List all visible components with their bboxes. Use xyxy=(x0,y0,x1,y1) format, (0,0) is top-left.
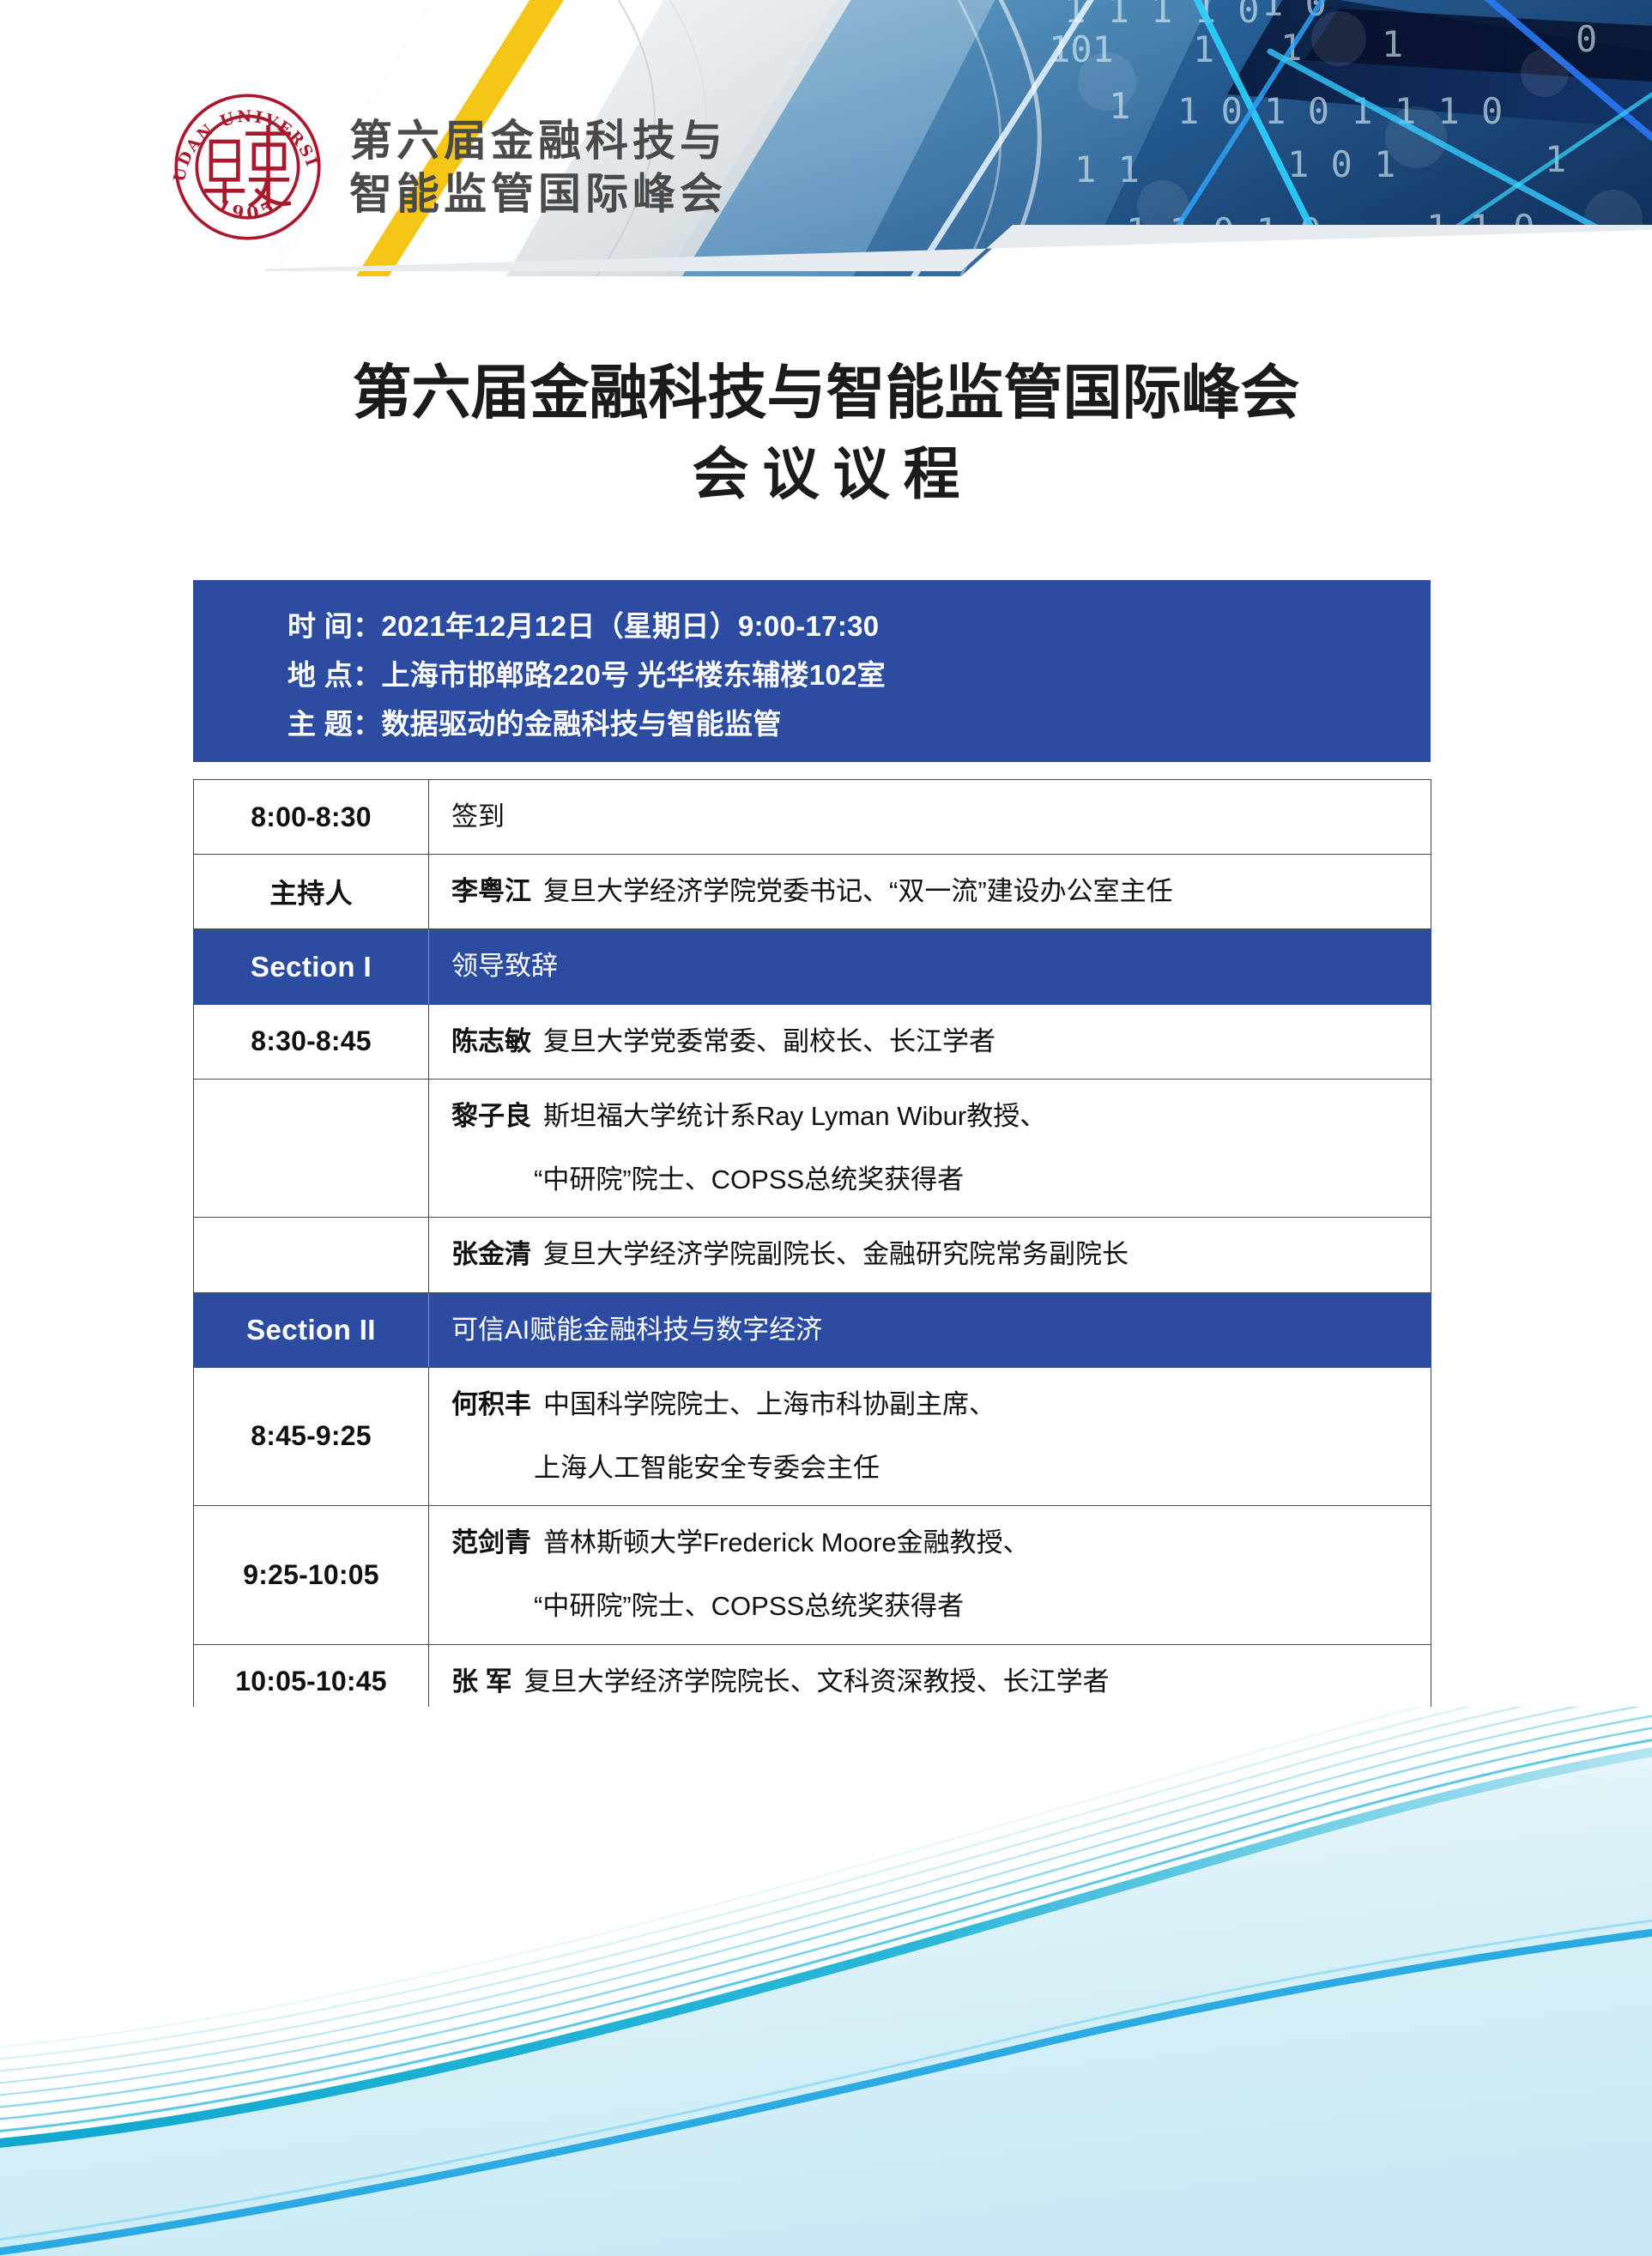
speaker-name: 张 军 xyxy=(451,1666,512,1697)
agenda-row: 张金清复旦大学经济学院副院长、金融研究院常务副院长 xyxy=(194,1218,1431,1292)
agenda-line: 普林斯顿大学Frederick Moore金融教授、 xyxy=(543,1527,1030,1557)
agenda-line: 复旦大学党委常委、副校长、长江学者 xyxy=(543,1026,995,1056)
agenda-time: 9:25-10:05 xyxy=(194,1544,428,1606)
agenda-row: 主持人李粤江复旦大学经济学院党委书记、“双一流”建设办公室主任 xyxy=(194,855,1431,929)
svg-text:1: 1 xyxy=(1382,23,1403,65)
agenda-row: 8:30-8:45陈志敏复旦大学党委常委、副校长、长江学者 xyxy=(194,1004,1431,1079)
agenda-row: 8:45-9:25何积丰中国科学院院士、上海市科协副主席、上海人工智能安全专委会… xyxy=(194,1367,1431,1505)
event-theme: 主 题：数据驱动的金融科技与智能监管 xyxy=(287,700,1431,749)
agenda-line: 可信AI赋能金融科技与数字经济 xyxy=(451,1315,822,1345)
agenda-row: 黎子良斯坦福大学统计系Ray Lyman Wibur教授、“中研院”院士、COP… xyxy=(194,1079,1431,1217)
agenda-section-row: Section I领导致辞 xyxy=(194,929,1431,1004)
speaker-name: 张金清 xyxy=(451,1239,531,1269)
page-title-line-1: 第六届金融科技与智能监管国际峰会 xyxy=(0,356,1652,430)
agenda-line: “中研院”院士、COPSS总统奖获得者 xyxy=(534,1164,964,1195)
section-topic: 可信AI赋能金融科技与数字经济 xyxy=(429,1293,1431,1367)
agenda-line: 中国科学院院士、上海市科协副主席、 xyxy=(543,1389,995,1419)
speaker-name: 黎子良 xyxy=(451,1101,531,1131)
agenda-detail: 李粤江复旦大学经济学院党委书记、“双一流”建设办公室主任 xyxy=(429,855,1431,928)
section-label: Section I xyxy=(194,935,428,999)
agenda-detail: 何积丰中国科学院院士、上海市科协副主席、上海人工智能安全专委会主任 xyxy=(429,1368,1431,1505)
agenda-line: 复旦大学经济学院院长、文科资深教授、长江学者 xyxy=(524,1666,1110,1697)
agenda-detail: 陈志敏复旦大学党委常委、副校长、长江学者 xyxy=(429,1005,1431,1079)
brand-logo-line-2: 智能监管国际峰会 xyxy=(349,170,727,218)
agenda-time: 8:45-9:25 xyxy=(194,1405,428,1467)
agenda-table: 8:00-8:30签到主持人李粤江复旦大学经济学院党委书记、“双一流”建设办公室… xyxy=(193,779,1431,1794)
agenda-detail: 黎子良斯坦福大学统计系Ray Lyman Wibur教授、“中研院”院士、COP… xyxy=(429,1080,1431,1217)
svg-text:1 0 1: 1 0 1 xyxy=(1287,143,1395,185)
agenda-time: 8:00-8:30 xyxy=(194,786,428,849)
agenda-detail: 范剑青普林斯顿大学Frederick Moore金融教授、“中研院”院士、COP… xyxy=(429,1506,1431,1643)
brand-logo-row: FUDAN UNIVERSITY 1905 第六届金融科技与 智能监管国际峰会 xyxy=(168,86,727,249)
agenda-time: 8:30-8:45 xyxy=(194,1010,428,1073)
page-title: 第六届金融科技与智能监管国际峰会 会议议程 xyxy=(0,356,1652,510)
agenda-time: 主持人 xyxy=(194,856,428,927)
agenda-row: 8:00-8:30签到 xyxy=(194,780,1431,855)
svg-text:1: 1 xyxy=(1109,85,1130,127)
brand-logo-line-1: 第六届金融科技与 xyxy=(349,117,727,165)
svg-text:1 0 1 0 1 1 1 0: 1 0 1 0 1 1 1 0 xyxy=(1177,90,1503,132)
agenda-line: 上海人工智能安全专委会主任 xyxy=(534,1453,880,1483)
agenda-detail: 签到 xyxy=(429,780,1431,854)
page-title-line-2: 会议议程 xyxy=(0,438,1652,510)
section-topic: 领导致辞 xyxy=(429,929,1431,1003)
agenda-line: 斯坦福大学统计系Ray Lyman Wibur教授、 xyxy=(543,1101,1046,1131)
agenda-line: “中研院”院士、COPSS总统奖获得者 xyxy=(534,1591,964,1621)
agenda-time: 10:05-10:45 xyxy=(194,1650,428,1713)
agenda-line: 领导致辞 xyxy=(451,951,558,981)
agenda-detail: 张金清复旦大学经济学院副院长、金融研究院常务副院长 xyxy=(429,1218,1431,1291)
agenda-line: 复旦大学经济学院党委书记、“双一流”建设办公室主任 xyxy=(543,876,1173,906)
agenda-time xyxy=(194,1239,428,1270)
agenda-line: 签到 xyxy=(451,801,505,832)
svg-text:0: 0 xyxy=(1576,18,1597,60)
event-time: 时 间：2021年12月12日（星期日）9:00-17:30 xyxy=(287,602,1431,651)
speaker-name: 何积丰 xyxy=(451,1389,531,1419)
agenda-section-row: Section II可信AI赋能金融科技与数字经济 xyxy=(194,1292,1431,1367)
speaker-name: 陈志敏 xyxy=(451,1026,531,1056)
event-place: 地 点：上海市邯郸路220号 光华楼东辅楼102室 xyxy=(287,651,1431,700)
event-info-box: 时 间：2021年12月12日（星期日）9:00-17:30 地 点：上海市邯郸… xyxy=(193,580,1431,762)
section-label: Section II xyxy=(194,1298,428,1362)
speaker-name: 范剑青 xyxy=(451,1527,531,1557)
footer-wave-graphic xyxy=(0,1707,1652,2256)
agenda-row: 9:25-10:05范剑青普林斯顿大学Frederick Moore金融教授、“… xyxy=(194,1506,1431,1644)
agenda-line: 复旦大学经济学院副院长、金融研究院常务副院长 xyxy=(543,1239,1129,1269)
agenda-time xyxy=(194,1133,428,1164)
fudan-university-seal-icon: FUDAN UNIVERSITY 1905 xyxy=(168,86,327,249)
speaker-name: 李粤江 xyxy=(451,876,531,906)
svg-text:1 1 1 1 0: 1 1 1 1 0 xyxy=(1064,0,1260,31)
svg-text:1 1: 1 1 xyxy=(1074,148,1140,191)
